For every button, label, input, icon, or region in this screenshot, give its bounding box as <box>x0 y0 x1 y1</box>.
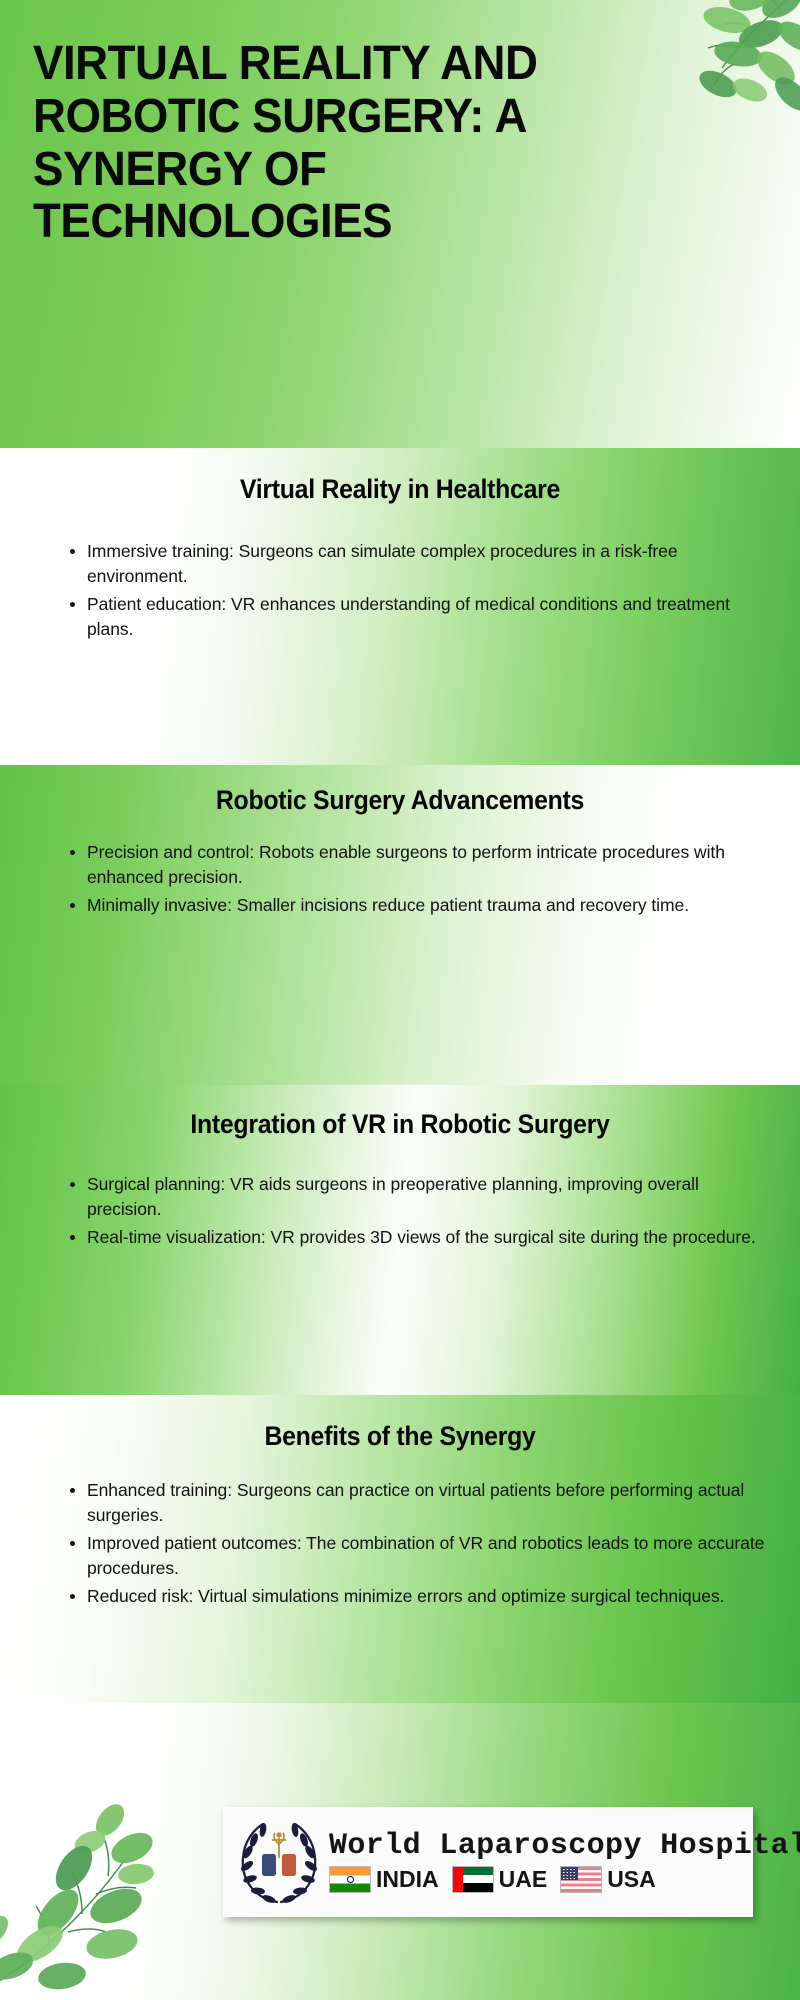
list-item: Immersive training: Surgeons can simulat… <box>68 539 766 590</box>
list-item: Minimally invasive: Smaller incisions re… <box>68 893 766 918</box>
country-label-india: INDIA <box>376 1868 439 1891</box>
list-item: Precision and control: Robots enable sur… <box>68 840 766 891</box>
infographic-poster: VIRTUAL REALITY AND ROBOTIC SURGERY: A S… <box>0 0 800 2000</box>
leaf-branch-icon <box>0 1726 216 1996</box>
section-heading: Benefits of the Synergy <box>32 1421 768 1452</box>
bullet-list: Precision and control: Robots enable sur… <box>0 840 800 918</box>
section-robotic-surgery-advancements: Robotic Surgery Advancements Precision a… <box>0 765 800 1085</box>
section-benefits-of-the-synergy: Benefits of the Synergy Enhanced trainin… <box>0 1395 800 1703</box>
india-flag-icon <box>329 1866 371 1893</box>
poster-header: VIRTUAL REALITY AND ROBOTIC SURGERY: A S… <box>0 0 800 448</box>
bullet-list: Enhanced training: Surgeons can practice… <box>0 1478 800 1609</box>
page-title: VIRTUAL REALITY AND ROBOTIC SURGERY: A S… <box>33 38 603 249</box>
usa-flag-icon <box>560 1866 602 1893</box>
logo-text-block: World Laparoscopy Hospital INDIA UAE USA <box>327 1831 800 1893</box>
list-item: Improved patient outcomes: The combinati… <box>68 1531 766 1582</box>
hospital-logo-card: World Laparoscopy Hospital INDIA UAE USA <box>223 1807 753 1917</box>
laurel-wreath-emblem-icon <box>231 1814 327 1910</box>
list-item: Real-time visualization: VR provides 3D … <box>68 1225 766 1250</box>
bullet-list: Surgical planning: VR aids surgeons in p… <box>0 1172 800 1250</box>
leaf-branch-icon <box>630 0 800 172</box>
poster-footer: World Laparoscopy Hospital INDIA UAE USA <box>0 1703 800 2000</box>
section-heading: Integration of VR in Robotic Surgery <box>32 1109 768 1140</box>
hospital-name: World Laparoscopy Hospital <box>329 1831 800 1862</box>
country-flag-row: INDIA UAE USA <box>329 1866 664 1893</box>
country-label-uae: UAE <box>499 1868 548 1891</box>
section-virtual-reality-in-healthcare: Virtual Reality in Healthcare Immersive … <box>0 448 800 765</box>
section-heading: Robotic Surgery Advancements <box>32 785 768 816</box>
list-item: Surgical planning: VR aids surgeons in p… <box>68 1172 766 1223</box>
bullet-list: Immersive training: Surgeons can simulat… <box>0 539 800 643</box>
section-heading: Virtual Reality in Healthcare <box>32 474 768 505</box>
list-item: Patient education: VR enhances understan… <box>68 592 766 643</box>
list-item: Reduced risk: Virtual simulations minimi… <box>68 1584 766 1609</box>
uae-flag-icon <box>452 1866 494 1893</box>
section-integration-of-vr-in-robotic-surgery: Integration of VR in Robotic Surgery Sur… <box>0 1085 800 1395</box>
list-item: Enhanced training: Surgeons can practice… <box>68 1478 766 1529</box>
country-label-usa: USA <box>607 1868 656 1891</box>
